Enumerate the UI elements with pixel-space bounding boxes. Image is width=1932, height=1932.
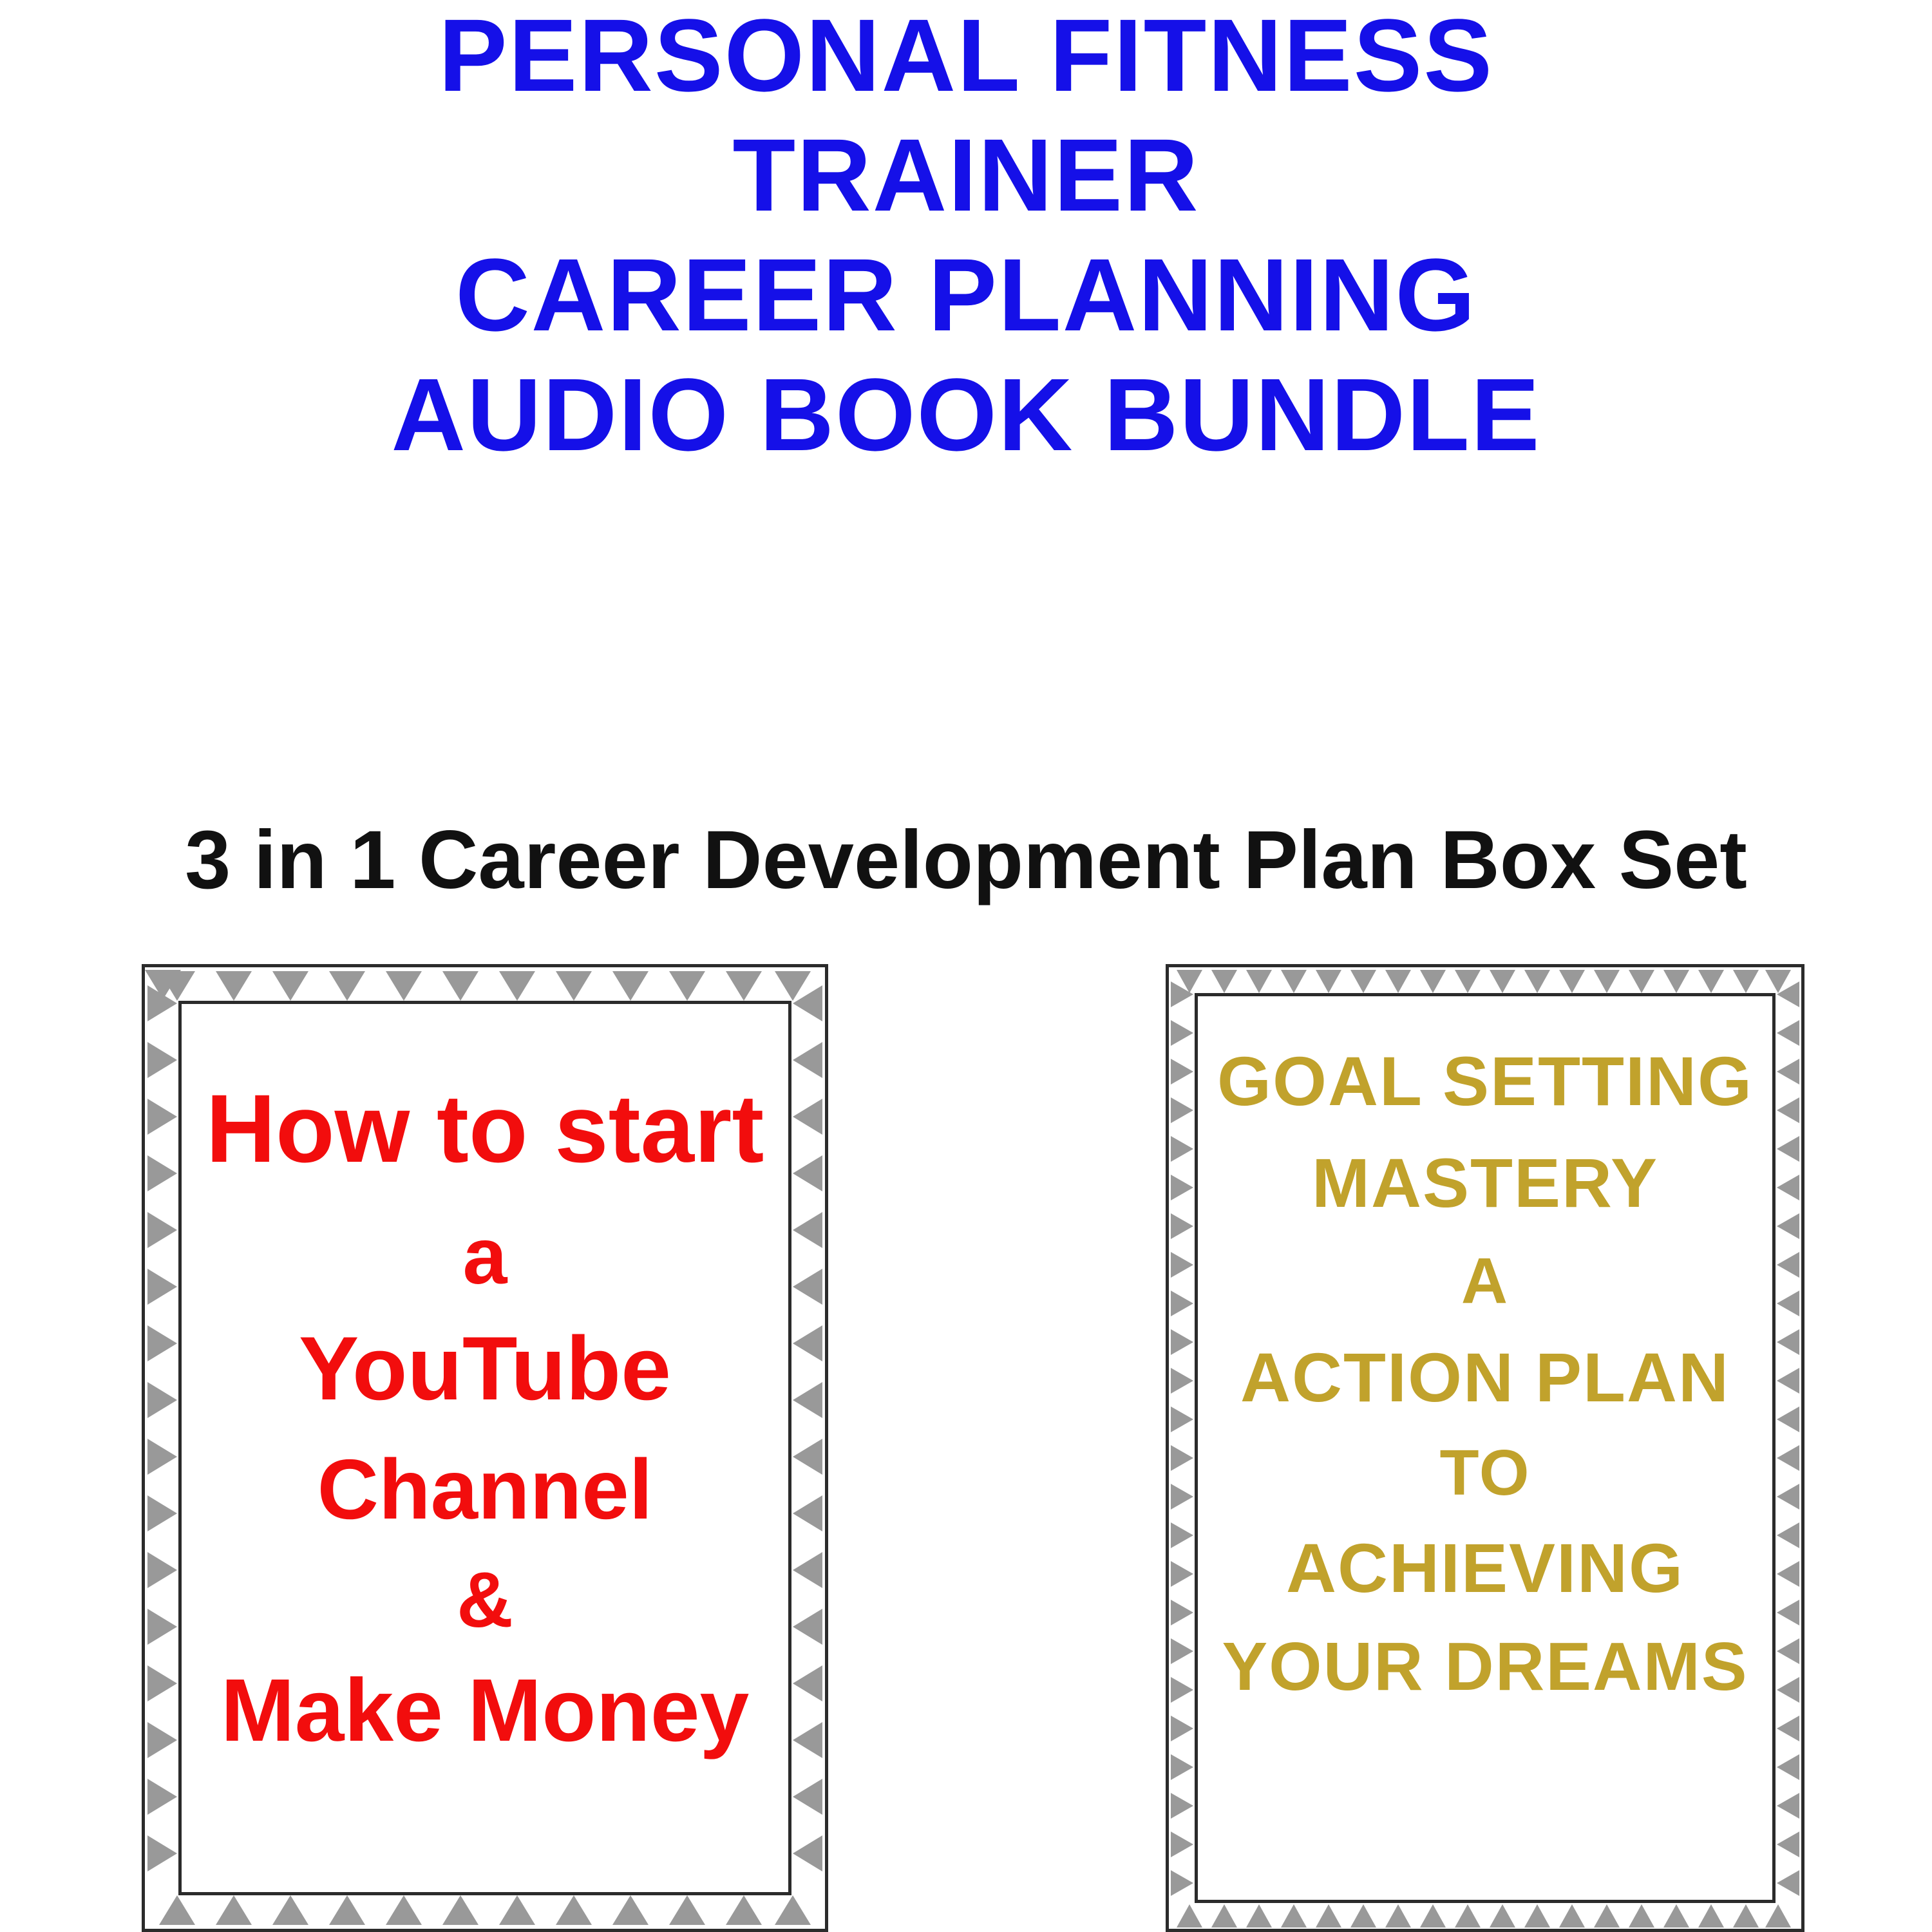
title-line-3: CAREER PLANNING: [0, 243, 1932, 346]
title-line-1: PERSONAL FITNESS: [0, 4, 1932, 107]
ornament-band-bottom-right: [1169, 1903, 1801, 1929]
ornament-band-left-left: [145, 967, 178, 1929]
left-book-line-4: Channel: [182, 1447, 788, 1532]
ornament-band-left-right: [1169, 967, 1195, 1929]
left-book-line-6: Make Money: [182, 1666, 788, 1755]
title-line-2: TRAINER: [0, 124, 1932, 227]
book-cover-right-text: GOAL SETTING MASTERY A ACTION PLAN TO AC…: [1198, 1046, 1772, 1701]
left-book-line-1: How to start: [182, 1080, 788, 1177]
ornament-band-right-right: [1776, 967, 1801, 1929]
page-title: PERSONAL FITNESS TRAINER CAREER PLANNING…: [0, 0, 1932, 466]
page-subtitle: 3 in 1 Career Development Plan Box Set: [0, 819, 1932, 902]
book-cover-right: GOAL SETTING MASTERY A ACTION PLAN TO AC…: [1166, 964, 1804, 1932]
left-book-line-3: YouTube: [182, 1323, 788, 1414]
book-cover-left-inner: How to start a YouTube Channel & Make Mo…: [178, 1001, 791, 1895]
title-line-4: AUDIO BOOK BUNDLE: [0, 363, 1932, 466]
right-book-line-7: YOUR DREAMS: [1198, 1633, 1772, 1701]
right-book-line-6: ACHIEVING: [1198, 1533, 1772, 1603]
left-book-line-5: &: [182, 1560, 788, 1639]
right-book-line-4: ACTION PLAN: [1198, 1343, 1772, 1412]
book-cover-left: How to start a YouTube Channel & Make Mo…: [142, 964, 828, 1932]
book-cover-left-text: How to start a YouTube Channel & Make Mo…: [182, 1080, 788, 1755]
right-book-line-1: GOAL SETTING: [1198, 1046, 1772, 1116]
right-book-line-2: MASTERY: [1198, 1148, 1772, 1218]
left-book-line-2: a: [182, 1217, 788, 1296]
book-cover-right-inner: GOAL SETTING MASTERY A ACTION PLAN TO AC…: [1195, 993, 1776, 1903]
ornament-band-top-left: [145, 967, 825, 1001]
ornament-band-bottom-left: [145, 1895, 825, 1929]
ornament-band-right-left: [791, 967, 825, 1929]
right-book-line-5: TO: [1198, 1441, 1772, 1505]
right-book-line-3: A: [1198, 1249, 1772, 1313]
ornament-band-top-right: [1169, 967, 1801, 993]
